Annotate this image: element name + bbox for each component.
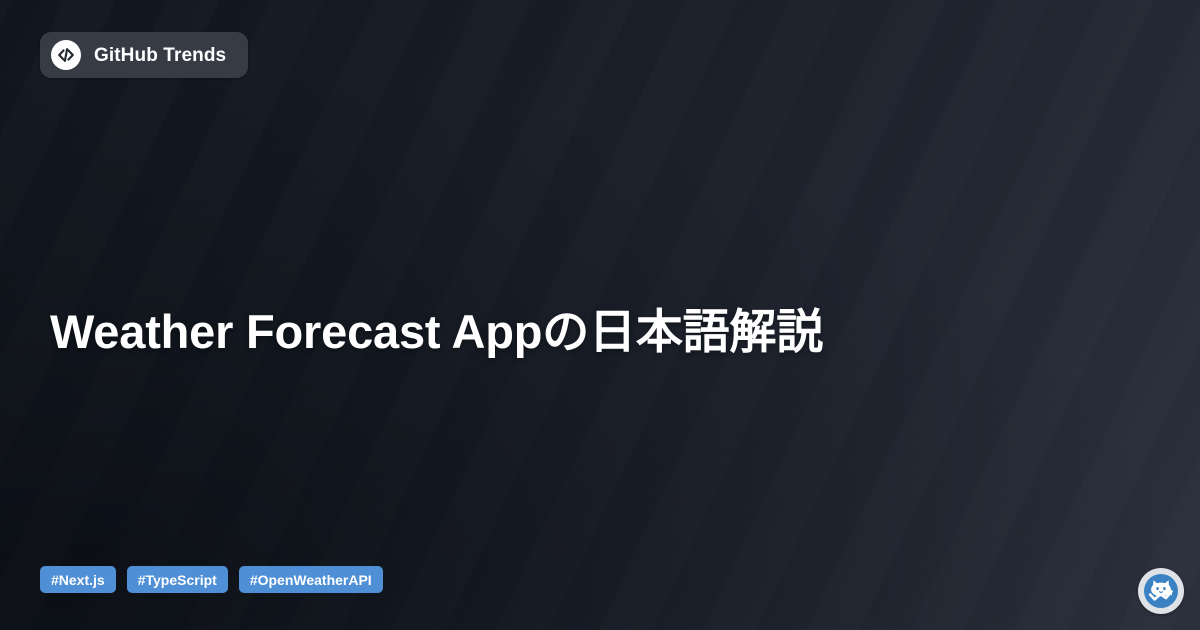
tag-item[interactable]: #OpenWeatherAPI (239, 566, 383, 593)
og-card: GitHub Trends Weather Forecast Appの日本語解説… (0, 0, 1200, 630)
brand-badge[interactable]: GitHub Trends (40, 32, 248, 78)
cat-trend-logo-icon (1138, 568, 1184, 614)
tag-item[interactable]: #Next.js (40, 566, 116, 593)
brand-label: GitHub Trends (94, 46, 226, 65)
code-brackets-icon (51, 40, 81, 70)
tag-row: #Next.js #TypeScript #OpenWeatherAPI (40, 566, 383, 593)
page-title: Weather Forecast Appの日本語解説 (50, 302, 1080, 362)
tag-item[interactable]: #TypeScript (127, 566, 228, 593)
